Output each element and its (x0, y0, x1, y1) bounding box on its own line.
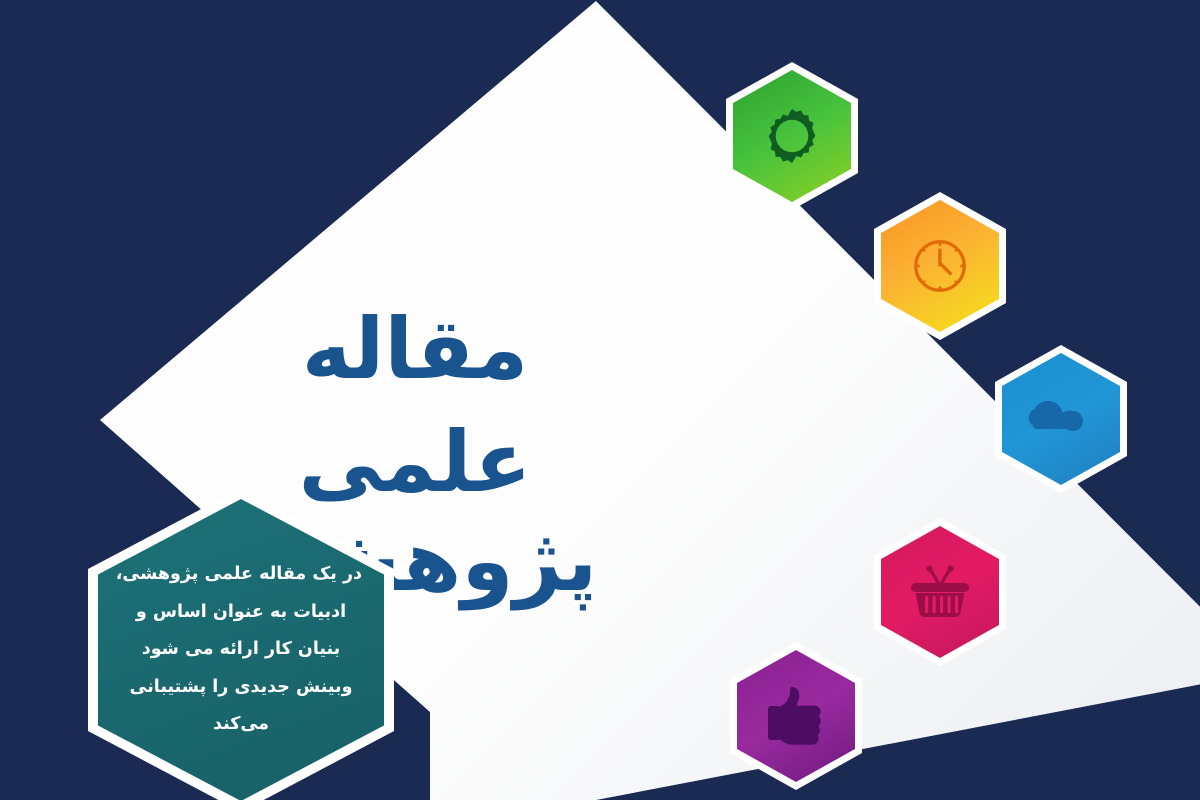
quote-line-4: وبینش جدیدی را پشتیبانی (120, 669, 362, 707)
cloud-icon (1028, 393, 1094, 445)
quote-line-1: در یک مقاله علمی پژوهشی، (120, 556, 362, 594)
gear-icon (761, 105, 823, 167)
thumbs-up-icon (766, 684, 826, 748)
shopping-basket-icon (908, 563, 972, 621)
quote-line-5: می‌کند (120, 706, 362, 744)
page-title-line-1: مقاله (135, 300, 695, 399)
quote-line-2: ادبیات به عنوان اساس و (120, 594, 362, 632)
quote-line-3: بنیان کار ارائه می شود (120, 631, 362, 669)
quote-text: در یک مقاله علمی پژوهشی، ادبیات به عنوان… (120, 556, 362, 744)
poster-canvas: مقاله علمی پژوهشی در یک مقاله علمی پژوهش… (0, 0, 1200, 800)
clock-icon (909, 235, 971, 297)
